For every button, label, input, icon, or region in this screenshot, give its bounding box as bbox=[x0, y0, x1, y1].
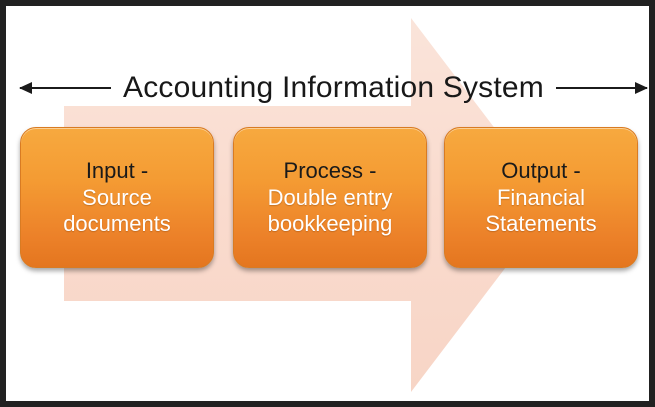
stage-title-process: Process - bbox=[284, 158, 377, 184]
stage-detail-process-line-2: bookkeeping bbox=[268, 211, 393, 237]
diagram-canvas: Accounting Information System Input - So… bbox=[0, 0, 655, 407]
stage-box-output[interactable]: Output - Financial Statements bbox=[444, 127, 638, 268]
stage-detail-process-line-1: Double entry bbox=[268, 185, 393, 211]
stage-detail-input-line-2: documents bbox=[63, 211, 171, 237]
stage-box-input[interactable]: Input - Source documents bbox=[20, 127, 214, 268]
arrow-left-icon bbox=[20, 87, 111, 89]
arrow-right-icon bbox=[556, 87, 647, 89]
stage-detail-output-line-1: Financial bbox=[497, 185, 585, 211]
stage-detail-input-line-1: Source bbox=[82, 185, 152, 211]
stage-detail-output-line-2: Statements bbox=[485, 211, 596, 237]
title-with-arrows: Accounting Information System bbox=[12, 66, 655, 110]
stage-title-input: Input - bbox=[86, 158, 148, 184]
stage-box-process[interactable]: Process - Double entry bookkeeping bbox=[233, 127, 427, 268]
stage-title-output: Output - bbox=[501, 158, 580, 184]
page-title: Accounting Information System bbox=[121, 73, 546, 103]
